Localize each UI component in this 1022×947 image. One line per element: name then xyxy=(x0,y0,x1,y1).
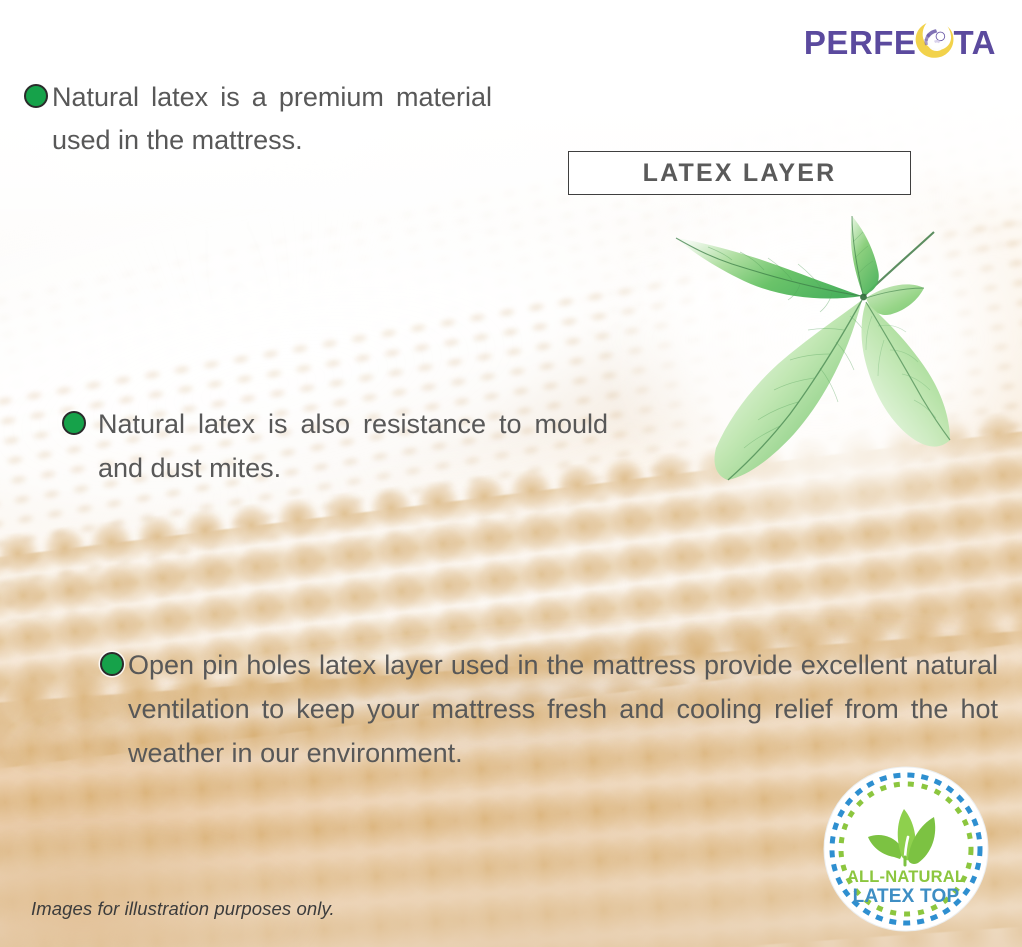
bullet-item-1-text: Natural latex is a premium material used… xyxy=(52,76,492,162)
green-dot-bullet-icon xyxy=(100,652,124,676)
background-bottom-left-warm-fade xyxy=(0,780,420,947)
compound-leaf-graphic xyxy=(672,208,972,518)
bullet-item-3-text: Open pin holes latex layer used in the m… xyxy=(128,643,998,775)
crescent-moon-sleeping-figure-icon xyxy=(913,20,955,64)
product-infographic-canvas: PERFE TA LATEX LAYER xyxy=(0,0,1022,947)
bullet-item-2: Natural latex is also resistance to moul… xyxy=(62,402,622,490)
bullet-item-1: Natural latex is a premium material used… xyxy=(24,76,510,162)
all-natural-latex-top-badge: ALL-NATURAL LATEX TOP xyxy=(822,765,990,933)
green-dot-bullet-icon xyxy=(62,411,86,435)
badge-line-2: LATEX TOP xyxy=(853,886,960,907)
latex-layer-title: LATEX LAYER xyxy=(643,159,837,188)
logo-text-left: PERFE xyxy=(804,26,917,59)
latex-layer-heading-box: LATEX LAYER xyxy=(568,151,911,195)
brand-logo: PERFE TA xyxy=(804,18,996,66)
green-dot-bullet-icon xyxy=(24,84,48,108)
bullet-item-3: Open pin holes latex layer used in the m… xyxy=(100,643,1000,775)
badge-line-1: ALL-NATURAL xyxy=(847,868,965,886)
logo-text-right: TA xyxy=(953,26,996,59)
bullet-item-2-text: Natural latex is also resistance to moul… xyxy=(98,402,608,490)
disclaimer-text: Images for illustration purposes only. xyxy=(31,898,335,920)
